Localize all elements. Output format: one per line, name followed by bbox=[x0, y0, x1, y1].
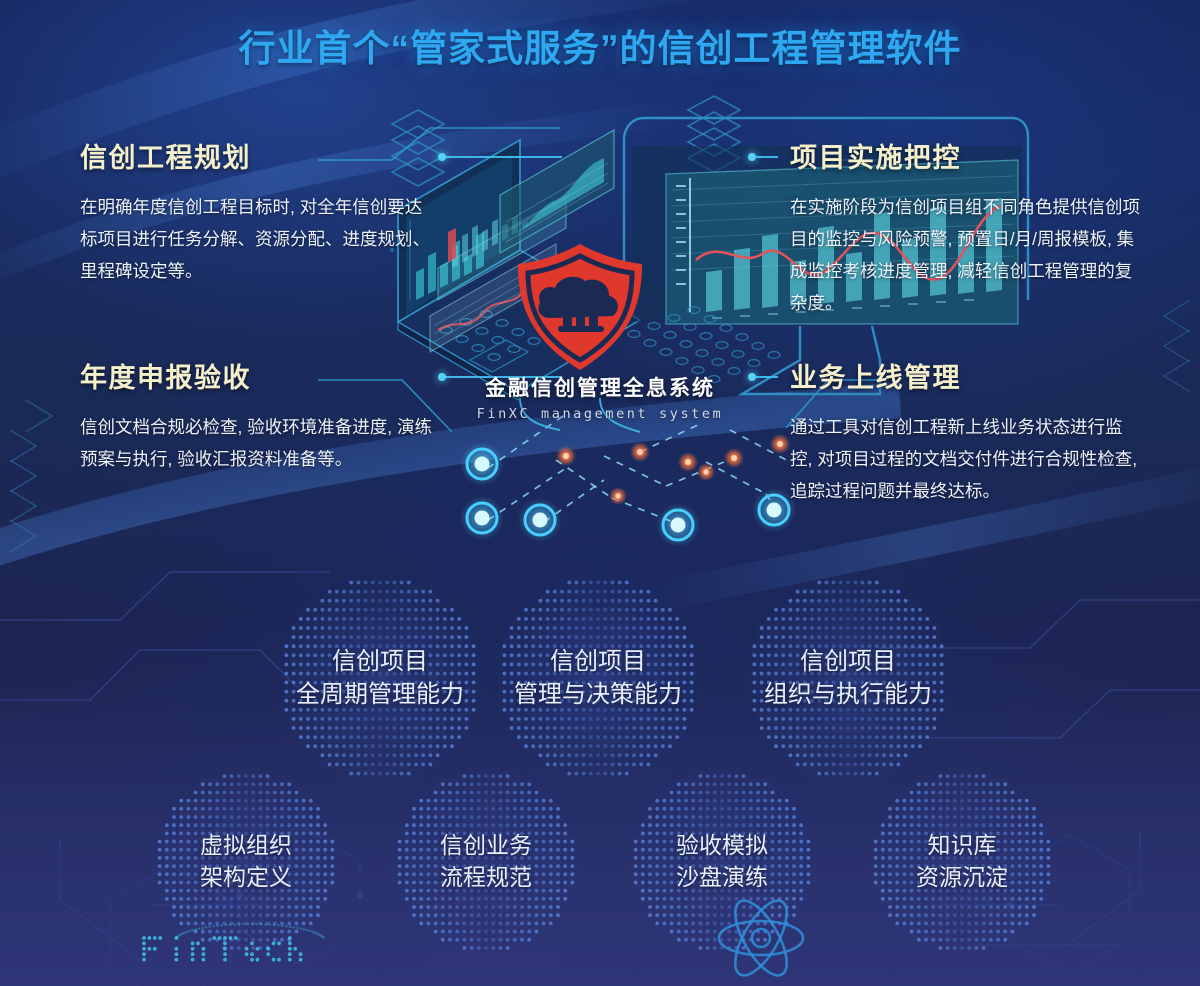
sphere-label: 知识库 资源沉淀 bbox=[916, 830, 1008, 893]
sphere-label: 信创项目 全周期管理能力 bbox=[296, 645, 464, 711]
connector-line bbox=[756, 376, 778, 378]
feature-heading: 信创工程规划 bbox=[80, 136, 432, 175]
sphere-label: 虚拟组织 架构定义 bbox=[200, 830, 292, 893]
atom-orbit-icon bbox=[706, 880, 816, 986]
feature-block-xinchuang-planning: 信创工程规划 在明确年度信创工程目标时, 对全年信创要达标项目进行任务分解、资源… bbox=[80, 136, 432, 287]
capability-sphere-management-decision: 信创项目 管理与决策能力 bbox=[498, 578, 698, 778]
floating-chart-panel-2 bbox=[430, 244, 556, 352]
feature-block-project-implementation-control: 项目实施把控 在实施阶段为信创项目组不同角色提供信创项目的监控与风险预警, 预置… bbox=[790, 136, 1142, 319]
feature-body: 通过工具对信创工程新上线业务状态进行监控, 对项目过程的文档交付件进行合规性检查… bbox=[790, 411, 1142, 507]
network-nodes bbox=[460, 442, 796, 547]
module-sphere-knowledge-base: 知识库 资源沉淀 bbox=[872, 772, 1052, 952]
feature-block-business-launch-management: 业务上线管理 通过工具对信创工程新上线业务状态进行监控, 对项目过程的文档交付件… bbox=[790, 356, 1142, 507]
floating-chart-panel-1 bbox=[438, 196, 566, 300]
infographic-stage: 行业首个“管家式服务”的信创工程管理软件 信创工程规划 在明确年度信创工程目标时… bbox=[0, 0, 1200, 986]
feature-body: 在明确年度信创工程目标时, 对全年信创要达标项目进行任务分解、资源分配、进度规划… bbox=[80, 191, 432, 287]
network-center-curves bbox=[520, 398, 640, 432]
connector-line bbox=[756, 156, 778, 158]
laptop-illustration bbox=[398, 140, 640, 400]
page-title: 行业首个“管家式服务”的信创工程管理软件 bbox=[0, 18, 1200, 72]
feature-heading: 年度申报验收 bbox=[80, 356, 432, 395]
feature-heading: 业务上线管理 bbox=[790, 356, 1142, 395]
link-dots bbox=[556, 434, 790, 505]
capability-sphere-full-lifecycle: 信创项目 全周期管理能力 bbox=[280, 578, 480, 778]
sphere-label: 信创项目 组织与执行能力 bbox=[764, 645, 932, 711]
floating-chart-panel-3 bbox=[500, 130, 614, 253]
feature-block-annual-declaration-acceptance: 年度申报验收 信创文档合规必检查, 验收环境准备进度, 演练预案与执行, 验收汇… bbox=[80, 356, 432, 475]
feature-body: 信创文档合规必检查, 验收环境准备进度, 演练预案与执行, 验收汇报资料准备等。 bbox=[80, 411, 432, 475]
fintech-dot-matrix bbox=[140, 920, 360, 980]
sphere-label: 验收模拟 沙盘演练 bbox=[676, 830, 768, 893]
feature-heading: 项目实施把控 bbox=[790, 136, 1142, 175]
module-sphere-business-process: 信创业务 流程规范 bbox=[396, 772, 576, 952]
connector-line bbox=[444, 376, 562, 378]
shield-cloud-chart-icon bbox=[518, 244, 642, 370]
network-connections bbox=[488, 414, 790, 524]
sphere-label: 信创业务 流程规范 bbox=[440, 830, 532, 893]
keyboard-grid bbox=[628, 307, 780, 383]
sphere-label: 信创项目 管理与决策能力 bbox=[514, 645, 682, 711]
capability-sphere-organization-execution: 信创项目 组织与执行能力 bbox=[748, 578, 948, 778]
feature-body: 在实施阶段为信创项目组不同角色提供信创项目的监控与风险预警, 预置日/月/周报模… bbox=[790, 191, 1142, 319]
connector-line bbox=[444, 156, 562, 158]
fintech-watermark bbox=[140, 920, 360, 980]
